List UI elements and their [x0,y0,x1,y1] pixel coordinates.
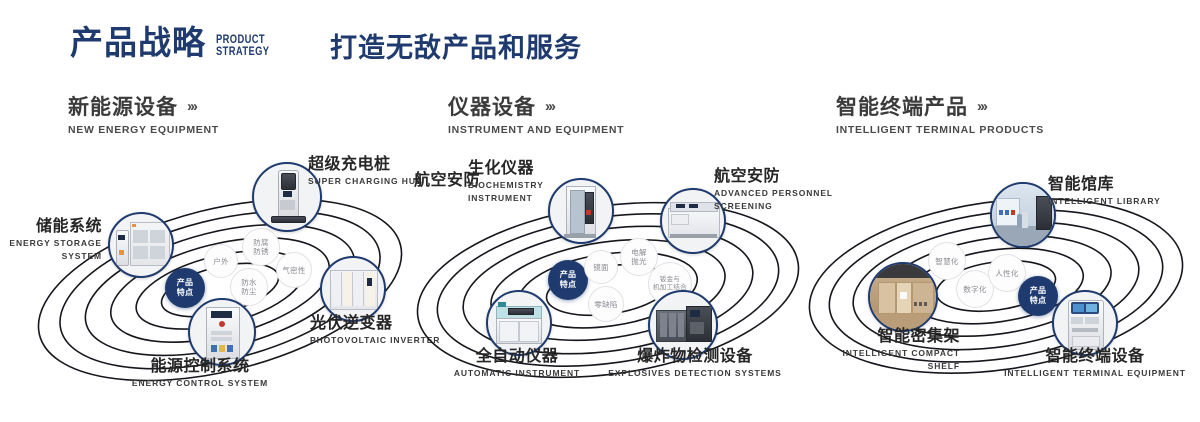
section-heading-cn-text: 智能终端产品 [836,96,968,119]
section-heading-en: NEW ENERGY EQUIPMENT [68,124,219,136]
feature-bubble-zero-defect: 零缺陷 [588,286,624,322]
caption-cn: 智能终端设备 [990,348,1200,366]
feature-bubble-label: 人性化 [995,269,1018,278]
feature-bubble-line2: 抛光 [631,257,647,266]
automatic-instrument-icon [488,292,550,354]
section-heading-cn: 新能源设备 ››› [68,96,219,119]
node-intelligent-compact-shelf[interactable] [868,262,938,332]
brand-title-en-line2: STRATEGY [216,45,269,57]
caption-energy-control-system: 能源控制系统 ENERGY CONTROL SYSTEM [100,358,300,389]
feature-bubble-label: 户外 [213,257,229,266]
feature-bubble-line1: 钣金与 [653,276,687,284]
feature-bubble-label: 智慧化 [935,257,958,266]
intelligent-terminal-equipment-icon [1054,292,1116,354]
chevron-right-icon: ››› [977,99,986,116]
caption-cn: 智能馆库 [1048,176,1188,194]
node-intelligent-terminal-equipment[interactable] [1052,290,1118,356]
caption-cn: 智能密集架 [790,328,960,346]
caption-en-line1: ENERGY STORAGE [2,238,102,249]
feature-bubble-label: 气密性 [282,266,305,275]
feature-bubble-line1: 电解 [631,248,647,257]
poster-canvas: 产品战略 PRODUCT STRATEGY 打造无敌产品和服务 新能源设备 ››… [0,0,1200,422]
caption-en-line2: INSTRUMENT [468,193,578,204]
caption-cn: 储能系统 [2,218,102,236]
caption-cn: 全自动仪器 [422,348,612,366]
section-heading-en: INTELLIGENT TERMINAL PRODUCTS [836,124,1044,136]
core-feature-line2: 特点 [560,280,577,290]
feature-bubble-mirror: 镜面 [584,250,618,284]
core-feature-line1: 产品 [560,270,577,280]
photovoltaic-inverter-icon [322,258,384,320]
section-heading-cn: 仪器设备 ››› [448,96,624,119]
feature-bubble-label: 数字化 [963,285,986,294]
section-heading-en: INSTRUMENT AND EQUIPMENT [448,124,624,136]
feature-bubble-outdoor: 户外 [204,244,238,278]
caption-intelligent-terminal-equipment: 智能终端设备 INTELLIGENT TERMINAL EQUIPMENT [990,348,1200,379]
section-heading-cn-text: 新能源设备 [68,96,178,119]
intelligent-library-icon [992,184,1054,246]
caption-en-line1: INTELLIGENT LIBRARY [1048,196,1188,207]
caption-en-line1: INTELLIGENT COMPACT [790,348,960,359]
caption-en-line1: INTELLIGENT TERMINAL EQUIPMENT [990,368,1200,379]
core-feature-line2: 特点 [177,288,194,298]
caption-cn: 爆炸物检测设备 [590,348,800,366]
caption-cn: 能源控制系统 [100,358,300,376]
node-energy-control-system[interactable] [188,298,256,366]
caption-en-line1: ENERGY CONTROL SYSTEM [100,378,300,389]
feature-bubble-label: 零缺陷 [594,300,617,309]
intelligent-compact-shelf-icon [870,264,936,330]
section-heading-new-energy: 新能源设备 ››› NEW ENERGY EQUIPMENT [68,96,219,136]
feature-bubble-line2: 防尘 [241,287,257,296]
caption-en-line1: AUTOMATIC INSTRUMENT [422,368,612,379]
caption-intelligent-library: 智能馆库 INTELLIGENT LIBRARY [1048,176,1188,207]
section-heading-intelligent-terminal: 智能终端产品 ››› INTELLIGENT TERMINAL PRODUCTS [836,96,1044,136]
chevron-right-icon: ››› [545,99,554,116]
core-feature-line2: 特点 [1030,296,1047,306]
energy-control-system-icon [190,300,254,364]
caption-en-line2: SHELF [790,361,960,372]
caption-en-line2: SYSTEM [2,251,102,262]
feature-bubble-line2: 防锈 [253,247,269,256]
section-heading-cn: 智能终端产品 ››› [836,96,1044,119]
caption-explosives-detection-systems: 爆炸物检测设备 EXPLOSIVES DETECTION SYSTEMS [590,348,800,379]
caption-en-line1: BIOCHEMISTRY [468,180,578,191]
energy-storage-system-icon [110,214,172,276]
core-feature-bubble: 产品 特点 [548,260,588,300]
caption-intelligent-compact-shelf: 智能密集架 INTELLIGENT COMPACT SHELF [790,328,960,372]
page-title: 产品战略 PRODUCT STRATEGY [70,26,284,59]
diagram-panel-instrument: 产品 特点 镜面 电解 抛光 钣金与 机加工结合 零缺陷 航空安防 [408,150,808,410]
caption-en-line1: EXPLOSIVES DETECTION SYSTEMS [590,368,800,379]
section-heading-instrument: 仪器设备 ››› INSTRUMENT AND EQUIPMENT [448,96,624,136]
caption-cn: 生化仪器 [468,160,578,178]
page-subtitle: 打造无敌产品和服务 [330,34,582,64]
feature-bubble-anticorrosion: 防腐 防锈 [242,228,280,266]
feature-bubble-airtightness: 气密性 [276,252,312,288]
core-feature-line1: 产品 [1030,286,1047,296]
chevron-right-icon: ››› [187,99,196,116]
node-energy-storage-system[interactable] [108,212,174,278]
section-heading-cn-text: 仪器设备 [448,96,536,119]
node-intelligent-library[interactable] [990,182,1056,248]
core-feature-line1: 产品 [177,278,194,288]
diagram-panel-intelligent-terminal: 智慧化 数字化 人性化 产品 特点 [800,150,1200,410]
caption-automatic-instrument: 全自动仪器 AUTOMATIC INSTRUMENT [422,348,612,379]
feature-bubble-line1: 防腐 [253,238,269,247]
node-automatic-instrument[interactable] [486,290,552,356]
caption-energy-storage-system: 储能系统 ENERGY STORAGE SYSTEM [2,218,102,262]
caption-biochemistry-instrument: 生化仪器 BIOCHEMISTRY INSTRUMENT [468,160,578,204]
feature-bubble-label: 镜面 [593,263,609,272]
brand-title-en: PRODUCT STRATEGY [216,33,269,57]
core-feature-bubble: 产品 特点 [1018,276,1058,316]
diagram-panel-new-energy: 产品 特点 户外 防腐 防锈 防水 防尘 气密性 [20,150,420,410]
brand-title-cn: 产品战略 [70,26,206,59]
node-photovoltaic-inverter[interactable] [320,256,386,322]
feature-bubble-line1: 防水 [241,278,257,287]
